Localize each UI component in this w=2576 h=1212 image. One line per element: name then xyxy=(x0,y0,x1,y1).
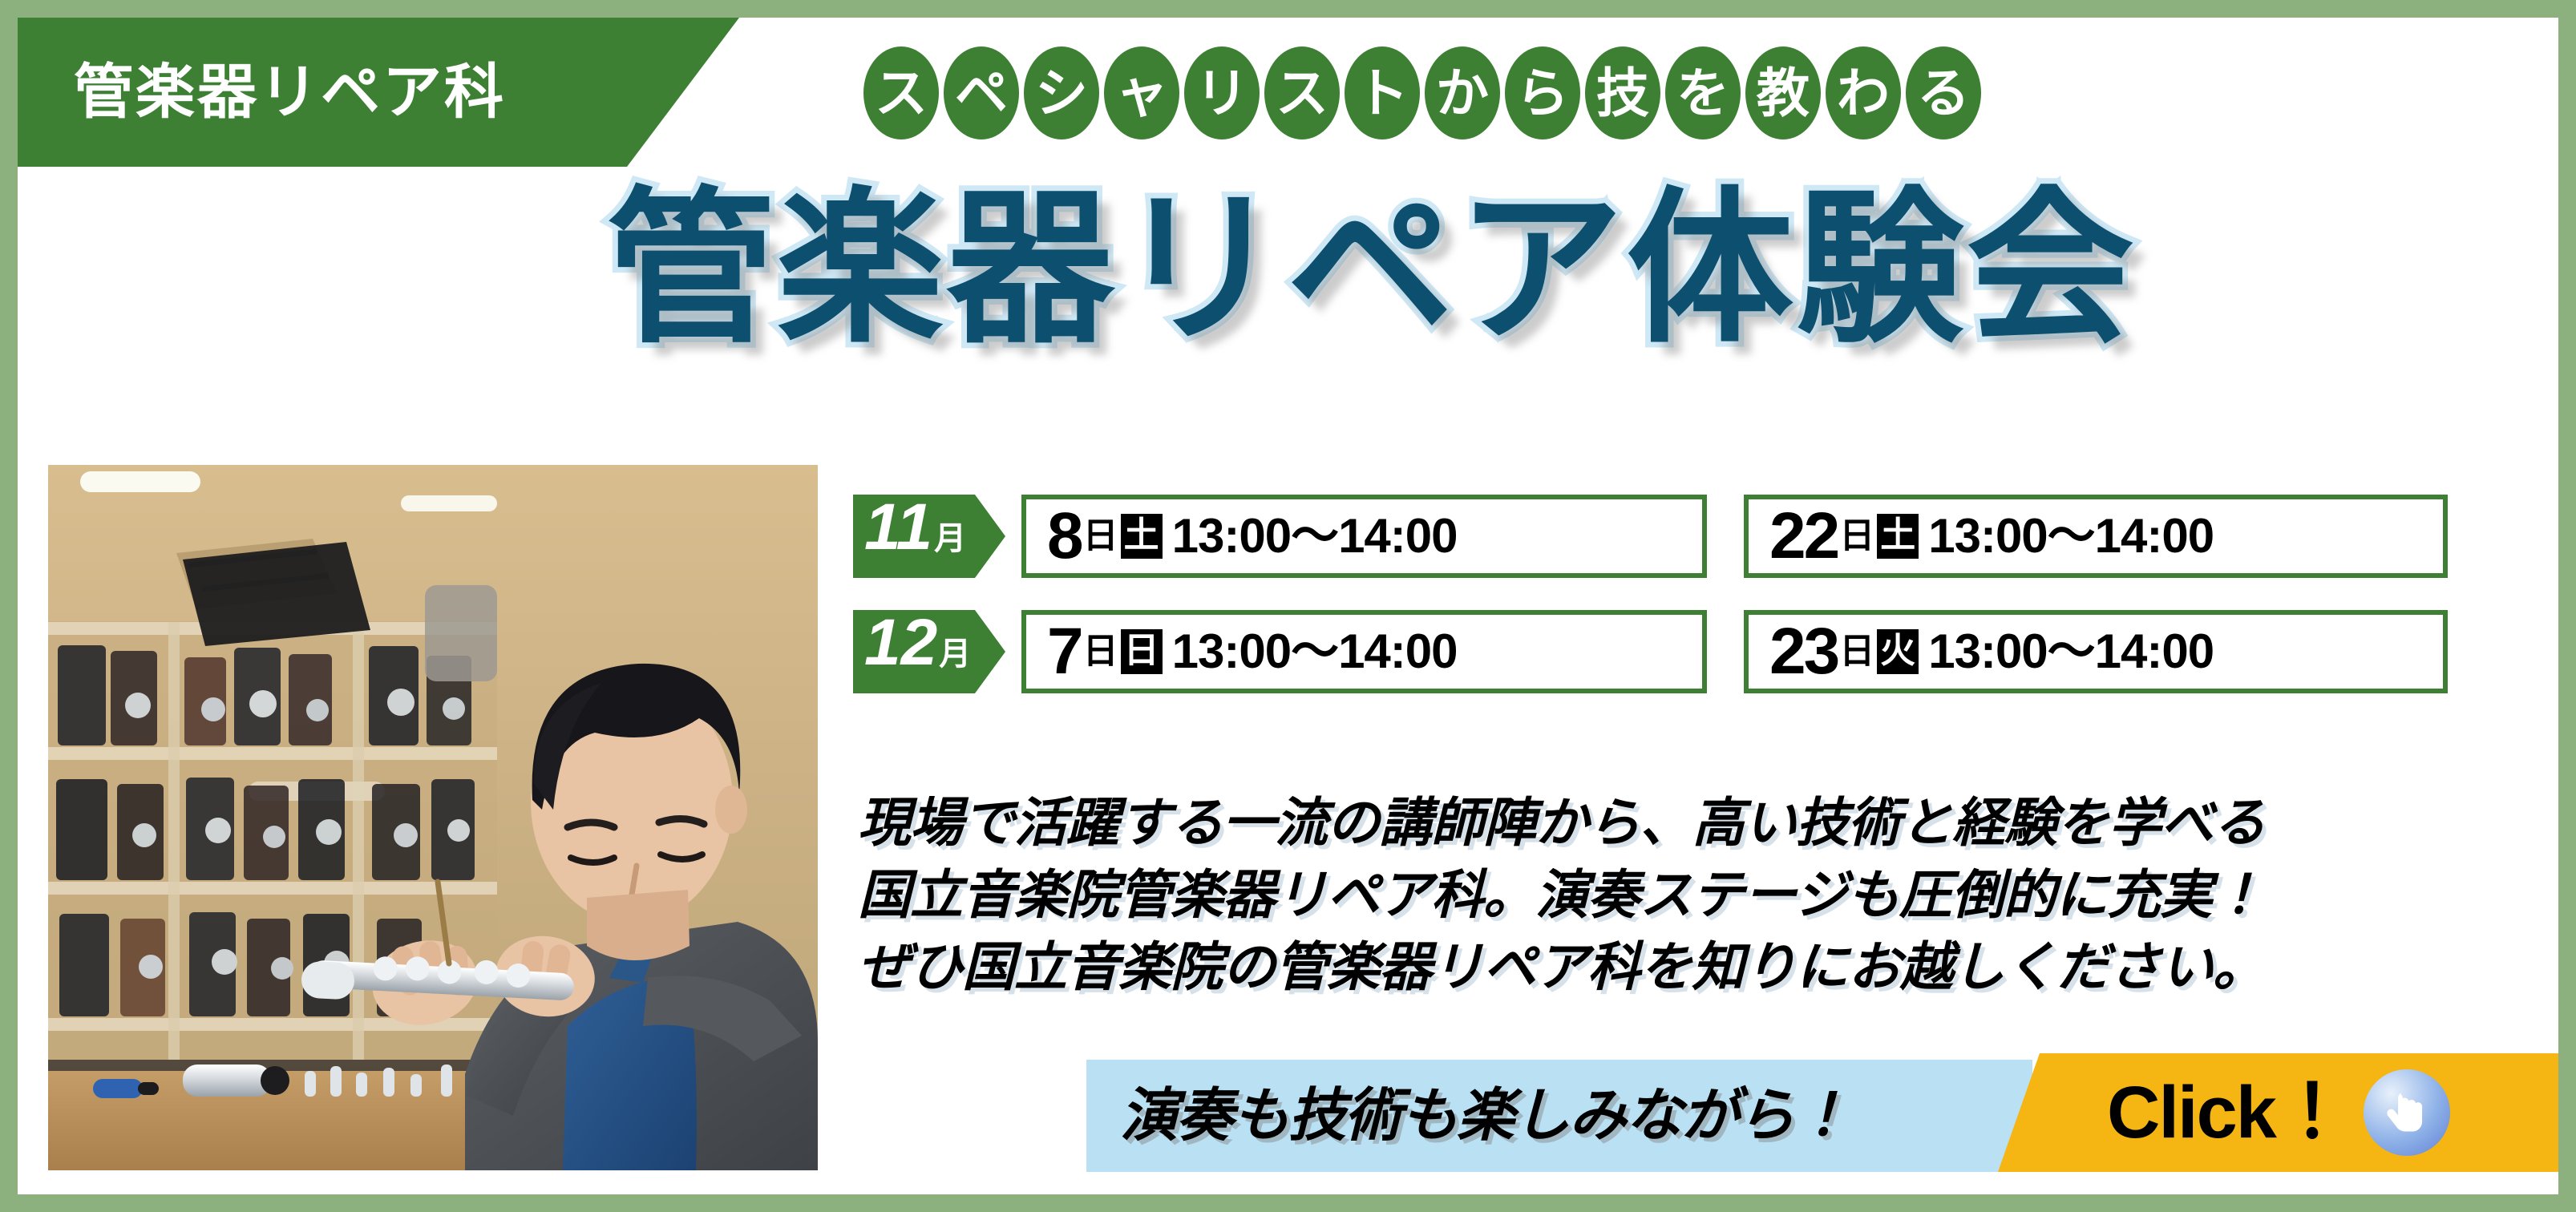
weekday-badge: 土 xyxy=(1877,514,1919,559)
tagline-badge: 技 xyxy=(1585,46,1660,139)
date-box[interactable]: 7 日 日 13:00〜14:00 xyxy=(1021,610,1707,693)
tagline-badge: 教 xyxy=(1745,46,1821,139)
tagline-badge: ス xyxy=(863,46,939,139)
tagline-badge: ャ xyxy=(1104,46,1179,139)
pointing-hand-glyph xyxy=(2379,1085,2435,1141)
time-range: 13:00〜14:00 xyxy=(1928,512,2214,560)
month-kanji: 月 xyxy=(934,523,966,555)
tagline-badge: わ xyxy=(1826,46,1901,139)
month-tag: 12 月 xyxy=(853,610,1005,693)
tagline-badge: ト xyxy=(1345,46,1420,139)
time-range: 13:00〜14:00 xyxy=(1928,628,2214,676)
schedule-row: 11 月 8 日 土 13:00〜14:00 22 日 土 13:00〜14:0… xyxy=(853,489,2533,584)
tagline-badge: リ xyxy=(1184,46,1260,139)
tagline-badges: ス ペ シ ャ リ ス ト か ら 技 を 教 わ る xyxy=(863,46,1981,139)
workshop-photo-illustration xyxy=(48,465,818,1170)
body-copy-line: 国立音楽院管楽器リペア科。演奏ステージも圧倒的に充実！ xyxy=(858,859,2558,931)
cta-tagline-bar: 演奏も技術も楽しみながら！ xyxy=(1086,1060,2032,1172)
time-range: 13:00〜14:00 xyxy=(1172,512,1458,560)
day-unit: 日 xyxy=(1083,634,1118,669)
cta-tagline-label: 演奏も技術も楽しみながら！ xyxy=(1120,1087,1850,1145)
month-kanji: 月 xyxy=(939,638,971,670)
promo-banner: 管楽器リペア科 ス ペ シ ャ リ ス ト か ら 技 を 教 わ る 管楽器リ… xyxy=(0,0,2576,1212)
tagline-badge: シ xyxy=(1024,46,1099,139)
day-number: 22 xyxy=(1769,503,1838,569)
schedule-row: 12 月 7 日 日 13:00〜14:00 23 日 火 13:00〜14:0… xyxy=(853,604,2533,699)
department-tag-label: 管楽器リペア科 xyxy=(74,63,506,122)
body-copy: 現場で活躍する一流の講師陣から、高い技術と経験を学べる 国立音楽院管楽器リペア科… xyxy=(858,787,2558,1003)
day-unit: 日 xyxy=(1839,634,1874,669)
month-tag: 11 月 xyxy=(853,495,1005,578)
click-button-label: Click！ xyxy=(2107,1076,2348,1149)
tagline-badge: ら xyxy=(1505,46,1580,139)
main-title: 管楽器リペア体験会 xyxy=(607,184,2531,354)
department-tag: 管楽器リペア科 xyxy=(18,18,739,167)
schedule: 11 月 8 日 土 13:00〜14:00 22 日 土 13:00〜14:0… xyxy=(853,489,2533,720)
weekday-badge: 火 xyxy=(1877,629,1919,674)
month-number: 11 xyxy=(864,495,932,560)
day-number: 7 xyxy=(1047,619,1082,685)
workshop-photo xyxy=(48,465,818,1170)
day-number: 23 xyxy=(1769,619,1838,685)
day-unit: 日 xyxy=(1839,519,1874,554)
tagline-badge: る xyxy=(1906,46,1981,139)
body-copy-line: ぜひ国立音楽院の管楽器リペア科を知りにお越しください。 xyxy=(858,931,2558,1004)
weekday-badge: 土 xyxy=(1121,514,1163,559)
tagline-badge: を xyxy=(1665,46,1741,139)
month-number: 12 xyxy=(864,610,937,676)
day-unit: 日 xyxy=(1083,519,1118,554)
date-box[interactable]: 22 日 土 13:00〜14:00 xyxy=(1744,495,2448,578)
time-range: 13:00〜14:00 xyxy=(1172,628,1458,676)
weekday-badge: 日 xyxy=(1121,629,1163,674)
body-copy-line: 現場で活躍する一流の講師陣から、高い技術と経験を学べる xyxy=(858,787,2558,859)
tagline-badge: ス xyxy=(1264,46,1340,139)
tagline-badge: か xyxy=(1425,46,1500,139)
click-button[interactable]: Click！ xyxy=(1998,1053,2558,1172)
date-box[interactable]: 8 日 土 13:00〜14:00 xyxy=(1021,495,1707,578)
pointing-hand-icon xyxy=(2364,1069,2450,1156)
date-box[interactable]: 23 日 火 13:00〜14:00 xyxy=(1744,610,2448,693)
day-number: 8 xyxy=(1047,503,1082,569)
banner-inner: 管楽器リペア科 ス ペ シ ャ リ ス ト か ら 技 を 教 わ る 管楽器リ… xyxy=(18,18,2558,1194)
tagline-badge: ペ xyxy=(944,46,1019,139)
